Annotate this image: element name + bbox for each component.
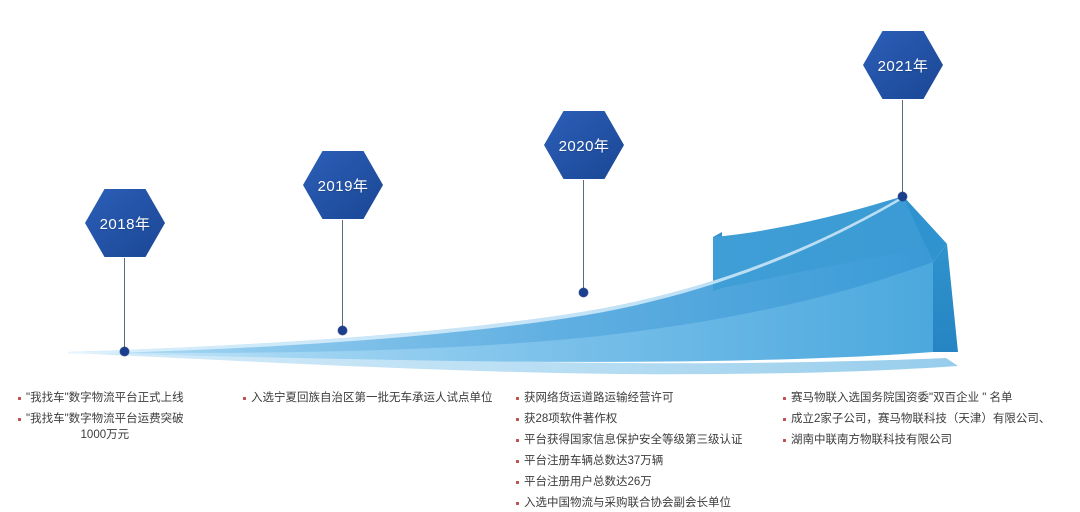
bullet-marker-icon: [516, 397, 519, 400]
list-item: 平台注册用户总数达26万: [516, 474, 781, 490]
ramp-end-cap: [933, 244, 958, 352]
bullet-marker-icon: [516, 418, 519, 421]
hexagon-shape-2018: [84, 188, 166, 258]
bullet-text: 入选中国物流与采购联合协会副会长单位: [524, 495, 731, 511]
hexagon-badge-2018[interactable]: 2018年: [84, 188, 166, 258]
bullet-text: 获网络货运道路运输经营许可: [524, 390, 674, 406]
timeline-dot-2018[interactable]: [120, 347, 129, 356]
description-column-2019: 入选宁夏回族自治区第一批无车承运人试点单位: [243, 390, 508, 411]
bullet-marker-icon: [783, 418, 786, 421]
bullet-text: 湖南中联南方物联科技有限公司: [791, 432, 952, 448]
bullet-marker-icon: [516, 481, 519, 484]
bullet-text: 赛马物联入选国务院国资委"双百企业 " 名单: [791, 390, 1013, 406]
timeline-dot-2020[interactable]: [579, 288, 588, 297]
list-item: 赛马物联入选国务院国资委"双百企业 " 名单: [783, 390, 1073, 406]
bullet-marker-icon: [516, 460, 519, 463]
list-item: "我找车"数字物流平台运费突破 1000万元: [18, 411, 233, 443]
stem-line-2018: [124, 258, 125, 350]
bullet-marker-icon: [783, 439, 786, 442]
bullet-text: 平台注册车辆总数达37万辆: [524, 453, 663, 469]
milestone-description-columns: "我找车"数字物流平台正式上线 "我找车"数字物流平台运费突破 1000万元 入…: [0, 390, 1080, 512]
stem-line-2019: [342, 220, 343, 329]
hexagon-shape-2021: [862, 30, 944, 100]
list-item: 入选宁夏回族自治区第一批无车承运人试点单位: [243, 390, 508, 406]
bullet-text: 入选宁夏回族自治区第一批无车承运人试点单位: [251, 390, 493, 406]
list-item: 平台获得国家信息保护安全等级第三级认证: [516, 432, 781, 448]
bullet-marker-icon: [516, 439, 519, 442]
bullet-marker-icon: [18, 418, 21, 421]
bullet-text: 平台获得国家信息保护安全等级第三级认证: [524, 432, 743, 448]
hexagon-badge-2019[interactable]: 2019年: [302, 150, 384, 220]
bullet-text: 获28项软件著作权: [524, 411, 617, 427]
timeline-dot-2021[interactable]: [898, 192, 907, 201]
list-item: "我找车"数字物流平台正式上线: [18, 390, 233, 406]
list-item: 获28项软件著作权: [516, 411, 781, 427]
list-item: 入选中国物流与采购联合协会副会长单位: [516, 495, 781, 511]
bullet-text: "我找车"数字物流平台正式上线: [26, 390, 184, 406]
stem-line-2021: [902, 100, 903, 199]
list-item: 获网络货运道路运输经营许可: [516, 390, 781, 406]
bullet-text: 成立2家子公司，赛马物联科技（天津）有限公司、: [791, 411, 1050, 427]
timeline-dot-2019[interactable]: [338, 326, 347, 335]
timeline-infographic: 2018年 2019年: [0, 0, 1080, 512]
hexagon-shape-2019: [302, 150, 384, 220]
bullet-marker-icon: [783, 397, 786, 400]
bullet-marker-icon: [243, 397, 246, 400]
list-item: 湖南中联南方物联科技有限公司: [783, 432, 1073, 448]
hexagon-badge-2020[interactable]: 2020年: [543, 110, 625, 180]
bullet-marker-icon: [18, 397, 21, 400]
hexagon-shape-2020: [543, 110, 625, 180]
description-column-2020: 获网络货运道路运输经营许可 获28项软件著作权 平台获得国家信息保护安全等级第三…: [516, 390, 781, 512]
list-item: 平台注册车辆总数达37万辆: [516, 453, 781, 469]
description-column-2018: "我找车"数字物流平台正式上线 "我找车"数字物流平台运费突破 1000万元: [18, 390, 233, 448]
description-column-2021: 赛马物联入选国务院国资委"双百企业 " 名单 成立2家子公司，赛马物联科技（天津…: [783, 390, 1073, 453]
stem-line-2020: [583, 180, 584, 292]
bullet-text: 平台注册用户总数达26万: [524, 474, 652, 490]
list-item: 成立2家子公司，赛马物联科技（天津）有限公司、: [783, 411, 1073, 427]
bullet-text: "我找车"数字物流平台运费突破 1000万元: [26, 411, 184, 443]
bullet-marker-icon: [516, 502, 519, 505]
hexagon-badge-2021[interactable]: 2021年: [862, 30, 944, 100]
